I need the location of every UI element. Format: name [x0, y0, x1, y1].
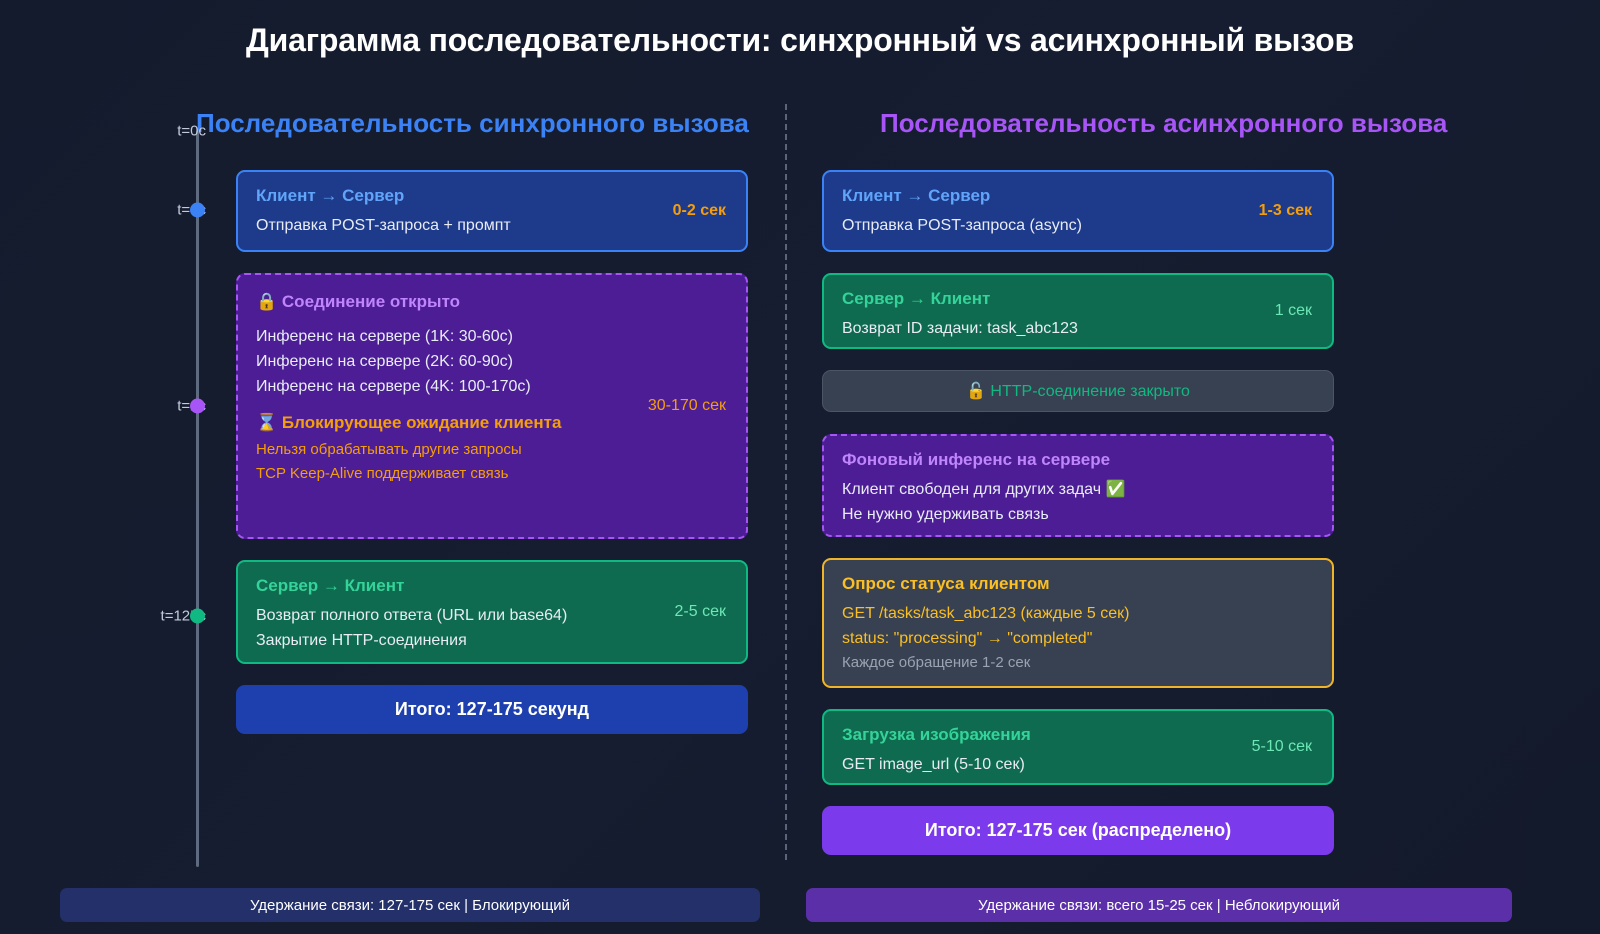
- card-title: Сервер → Клиент: [842, 288, 1314, 311]
- timeline-dot-1: [190, 203, 205, 218]
- card-line: Закрытие HTTP-соединения: [256, 628, 728, 653]
- card-line: Отправка POST-запроса (async): [842, 213, 1314, 238]
- card-duration: 1 сек: [1275, 302, 1312, 320]
- card-title: 🔒 Соединение открыто: [256, 291, 728, 314]
- card-title: Клиент → Сервер: [842, 185, 1314, 208]
- timeline-axis: [196, 130, 199, 867]
- async-card-background-inference[interactable]: Фоновый инференс на сервере Клиент свобо…: [822, 434, 1334, 537]
- diagram-root: Диаграмма последовательности: синхронный…: [0, 0, 1600, 934]
- card-subtitle: ⌛ Блокирующее ожидание клиента: [256, 413, 728, 433]
- card-line: status: "processing" → "completed": [842, 626, 1314, 651]
- card-muted-line: Каждое обращение 1-2 сек: [842, 651, 1314, 675]
- timeline-dot-3: [190, 609, 205, 624]
- async-card-request[interactable]: Клиент → Сервер Отправка POST-запроса (a…: [822, 170, 1334, 252]
- card-title: Фоновый инференс на сервере: [842, 449, 1314, 472]
- hourglass-icon: ⌛: [256, 413, 277, 433]
- card-banner-text: HTTP-соединение закрыто: [990, 383, 1190, 400]
- sync-footer-bar: Удержание связи: 127-175 сек | Блокирующ…: [60, 888, 760, 922]
- column-divider: [785, 104, 787, 860]
- async-card-taskid[interactable]: Сервер → Клиент Возврат ID задачи: task_…: [822, 273, 1334, 349]
- timeline-label-0: t=0c: [96, 123, 206, 140]
- card-warn-line: Нельзя обрабатывать другие запросы: [256, 438, 728, 462]
- sync-column-header: Последовательность синхронного вызова: [196, 108, 749, 139]
- card-line: Инференс на сервере (1K: 30-60с): [256, 324, 728, 349]
- page-title: Диаграмма последовательности: синхронный…: [0, 22, 1600, 59]
- sync-card-request[interactable]: Клиент → Сервер Отправка POST-запроса + …: [236, 170, 748, 252]
- card-line: GET image_url (5-10 сек): [842, 752, 1314, 777]
- card-duration: 5-10 сек: [1252, 738, 1312, 756]
- unlock-icon: 🔓: [966, 381, 986, 400]
- card-line: GET /tasks/task_abc123 (каждые 5 сек): [842, 601, 1314, 626]
- card-line: Возврат полного ответа (URL или base64): [256, 603, 728, 628]
- card-line: Клиент свободен для других задач ✅: [842, 477, 1314, 502]
- card-line: Возврат ID задачи: task_abc123: [842, 316, 1314, 341]
- card-banner: 🔓 HTTP-соединение закрыто: [966, 378, 1190, 404]
- async-footer-bar: Удержание связи: всего 15-25 сек | Небло…: [806, 888, 1512, 922]
- async-card-download[interactable]: Загрузка изображения GET image_url (5-10…: [822, 709, 1334, 785]
- card-line: Инференс на сервере (4K: 100-170с): [256, 374, 728, 399]
- card-title: Клиент → Сервер: [256, 185, 728, 208]
- sync-summary-bar: Итого: 127-175 секунд: [236, 685, 748, 734]
- sync-column: Клиент → Сервер Отправка POST-запроса + …: [236, 170, 748, 734]
- card-warn-line: TCP Keep-Alive поддерживает связь: [256, 462, 728, 486]
- timeline-dot-2: [190, 399, 205, 414]
- sync-card-connection-open[interactable]: 🔒 Соединение открыто Инференс на сервере…: [236, 273, 748, 539]
- card-subtitle-text: Блокирующее ожидание клиента: [282, 413, 562, 432]
- lock-icon: 🔒: [256, 292, 277, 312]
- card-duration: 2-5 сек: [675, 603, 726, 621]
- card-title: Опрос статуса клиентом: [842, 573, 1314, 596]
- card-line: Инференс на сервере (2K: 60-90с): [256, 349, 728, 374]
- card-duration: 30-170 сек: [648, 397, 726, 415]
- async-column: Клиент → Сервер Отправка POST-запроса (a…: [822, 170, 1334, 855]
- async-card-polling[interactable]: Опрос статуса клиентом GET /tasks/task_a…: [822, 558, 1334, 688]
- card-duration: 0-2 сек: [673, 202, 726, 220]
- card-line: Отправка POST-запроса + промпт: [256, 213, 728, 238]
- sync-card-response[interactable]: Сервер → Клиент Возврат полного ответа (…: [236, 560, 748, 664]
- async-summary-bar: Итого: 127-175 сек (распределено): [822, 806, 1334, 855]
- card-line: Не нужно удерживать связь: [842, 502, 1314, 527]
- card-duration: 1-3 сек: [1259, 202, 1312, 220]
- card-title-text: Соединение открыто: [282, 292, 460, 311]
- card-title: Загрузка изображения: [842, 724, 1314, 747]
- card-title: Сервер → Клиент: [256, 575, 728, 598]
- async-card-connection-closed[interactable]: 🔓 HTTP-соединение закрыто: [822, 370, 1334, 412]
- async-column-header: Последовательность асинхронного вызова: [880, 108, 1447, 139]
